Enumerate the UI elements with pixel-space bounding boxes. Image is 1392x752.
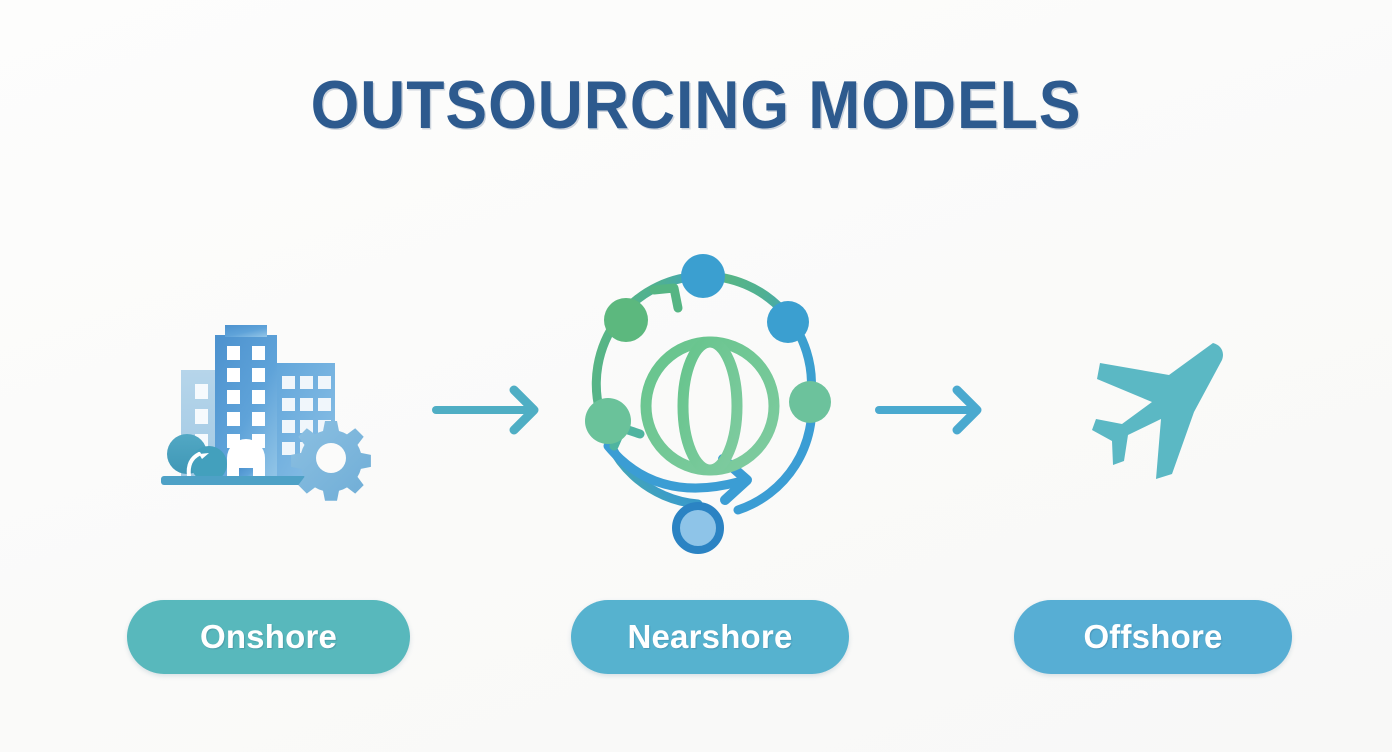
connector-nearshore-to-offshore xyxy=(860,245,1003,575)
label-row: Onshore Nearshore Offshore xyxy=(0,600,1392,676)
pill-nearshore[interactable]: Nearshore xyxy=(571,600,849,674)
office-buildings-gear-icon xyxy=(143,308,393,513)
orbit-node-bottom xyxy=(676,506,720,550)
nearshore-icon-slot xyxy=(560,245,860,575)
airplane-icon xyxy=(1063,333,1243,488)
infographic-canvas: OUTSOURCING MODELS xyxy=(0,0,1392,752)
arrow-right-icon xyxy=(430,382,548,438)
globe-network-orbit-icon xyxy=(578,254,842,566)
orbit-node-top xyxy=(681,254,725,298)
orbit-node-left xyxy=(585,398,631,444)
connector-onshore-to-nearshore xyxy=(418,245,560,575)
pill-offshore[interactable]: Offshore xyxy=(1014,600,1292,674)
orbit-node-upper-left xyxy=(604,298,648,342)
orbit-node-upper-right xyxy=(767,301,809,343)
orbit-node-right xyxy=(789,381,831,423)
onshore-icon-slot xyxy=(118,245,418,575)
icon-row xyxy=(0,245,1392,575)
offshore-icon-slot xyxy=(1003,245,1303,575)
page-title: OUTSOURCING MODELS xyxy=(56,66,1337,144)
arrow-right-icon xyxy=(873,382,991,438)
pill-onshore[interactable]: Onshore xyxy=(127,600,410,674)
